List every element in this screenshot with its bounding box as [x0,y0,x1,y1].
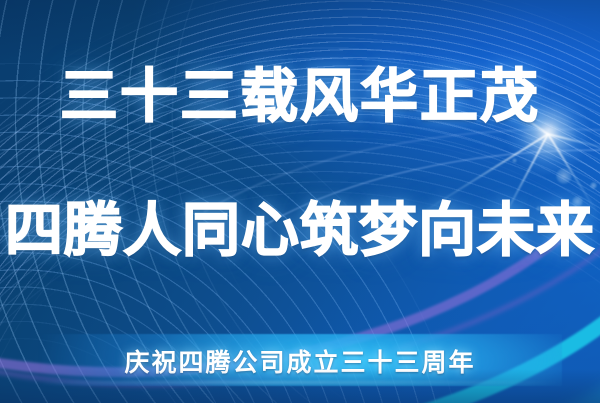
bokeh-particle [556,168,572,184]
subtitle-text: 庆祝四腾公司成立三十三周年 [0,343,600,379]
bokeh-particle [590,182,597,189]
headline-line-2: 四腾人同心筑梦向未来 [0,196,600,264]
subtitle-band-edge [38,381,562,384]
headline-line-1: 三十三载风华正茂 [0,62,600,130]
bokeh-particle [512,158,517,163]
celebration-poster: 三十三载风华正茂 四腾人同心筑梦向未来 庆祝四腾公司成立三十三周年 [0,0,600,403]
flare-ray [548,133,600,152]
vignette-top [0,0,600,60]
